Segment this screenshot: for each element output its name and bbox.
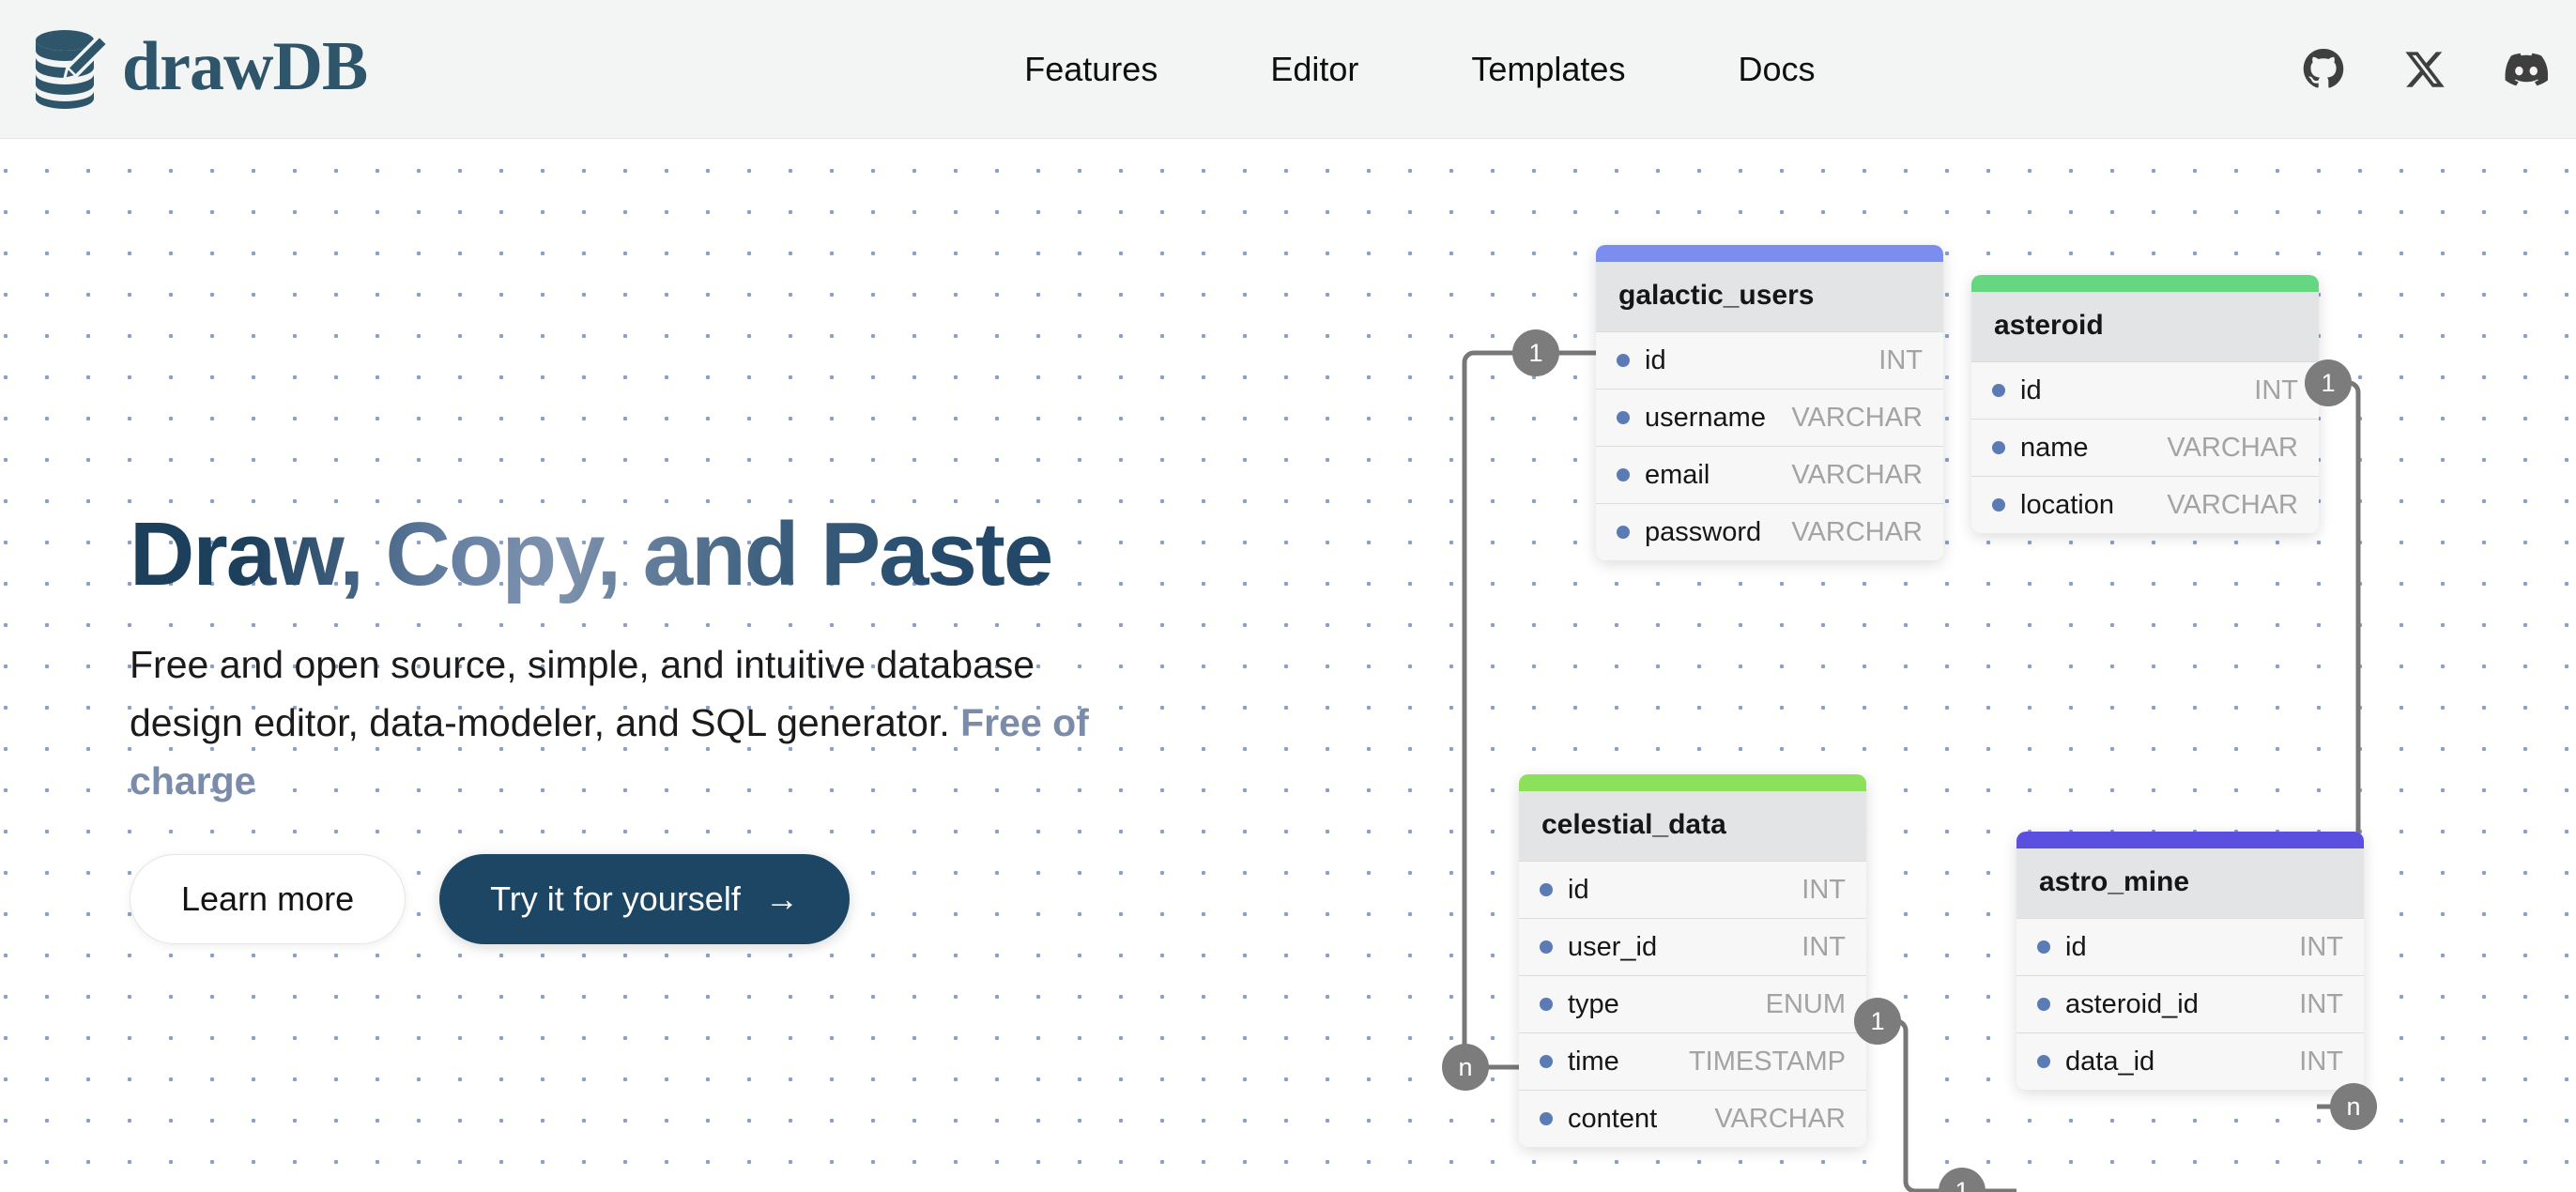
table-row[interactable]: asteroid_id INT (2016, 975, 2364, 1032)
field-type: TIMESTAMP (1689, 1047, 1846, 1077)
cardinality-badge-mine-asteroid-id: n (2330, 1083, 2377, 1130)
table-row[interactable]: id INT (1596, 331, 1943, 389)
cardinality-badge-celestial-user-id: n (1442, 1044, 1489, 1091)
field-name: username (1645, 403, 1766, 434)
edge-celestial-to-mine (1866, 1021, 2016, 1191)
field-key-icon (2037, 1055, 2050, 1068)
field-name: id (1568, 875, 1589, 906)
field-name: asteroid_id (2065, 989, 2199, 1020)
social-links (2302, 48, 2548, 91)
table-title: astro_mine (2016, 848, 2364, 918)
table-node-astro-mine[interactable]: astro_mine id INT asteroid_id INT data_i… (2016, 832, 2364, 1090)
field-type: INT (2299, 1047, 2343, 1077)
field-type: INT (1802, 875, 1846, 906)
field-key-icon (1540, 883, 1553, 896)
discord-icon[interactable] (2505, 48, 2548, 91)
field-key-icon (1617, 468, 1630, 481)
field-type: VARCHAR (1714, 1104, 1846, 1135)
table-row[interactable]: username VARCHAR (1596, 389, 1943, 446)
table-title: celestial_data (1519, 791, 1866, 861)
cardinality-badge-asteroid-id: 1 (2305, 359, 2352, 406)
field-type: VARCHAR (1791, 460, 1923, 491)
field-name: data_id (2065, 1047, 2154, 1077)
field-type: INT (2299, 989, 2343, 1020)
field-type: VARCHAR (1791, 517, 1923, 548)
diagram-canvas[interactable]: Draw, Copy, and Paste Free and open sour… (0, 140, 2576, 1192)
site-header: drawDB Features Editor Templates Docs (0, 0, 2576, 139)
nav-features[interactable]: Features (1024, 50, 1158, 89)
table-row[interactable]: name VARCHAR (1971, 419, 2319, 476)
field-key-icon (1992, 384, 2005, 397)
field-key-icon (1617, 354, 1630, 367)
table-title: asteroid (1971, 292, 2319, 361)
nav-docs[interactable]: Docs (1738, 50, 1815, 89)
field-key-icon (1617, 411, 1630, 424)
field-name: user_id (1568, 932, 1657, 963)
table-color-bar (1971, 275, 2319, 292)
table-row[interactable]: id INT (1519, 861, 1866, 918)
field-name: email (1645, 460, 1710, 491)
field-key-icon (2037, 940, 2050, 954)
table-row[interactable]: location VARCHAR (1971, 476, 2319, 533)
x-twitter-icon[interactable] (2403, 48, 2446, 91)
github-icon[interactable] (2302, 48, 2345, 91)
field-type: INT (2299, 932, 2343, 963)
field-name: id (2020, 375, 2042, 406)
field-key-icon (1540, 1055, 1553, 1068)
er-diagram: 1 n 1 n 1 1 galactic_users id INT userna… (0, 140, 2576, 1192)
field-name: id (1645, 345, 1666, 376)
table-row[interactable]: type ENUM (1519, 975, 1866, 1032)
table-node-celestial-data[interactable]: celestial_data id INT user_id INT type E… (1519, 774, 1866, 1147)
cardinality-badge-users-id: 1 (1512, 329, 1559, 376)
field-name: content (1568, 1104, 1657, 1135)
field-name: password (1645, 517, 1761, 548)
field-name: location (2020, 490, 2114, 521)
table-color-bar (1519, 774, 1866, 791)
table-title: galactic_users (1596, 262, 1943, 331)
database-pencil-icon (34, 28, 109, 111)
field-name: name (2020, 433, 2089, 464)
nav-templates[interactable]: Templates (1471, 50, 1625, 89)
field-type: INT (1878, 345, 1923, 376)
field-type: VARCHAR (2167, 490, 2298, 521)
table-node-asteroid[interactable]: asteroid id INT name VARCHAR location VA… (1971, 275, 2319, 533)
table-row[interactable]: id INT (2016, 918, 2364, 975)
field-key-icon (1617, 526, 1630, 539)
table-row[interactable]: id INT (1971, 361, 2319, 419)
main-nav: Features Editor Templates Docs (1024, 50, 1815, 89)
field-key-icon (1992, 441, 2005, 454)
field-key-icon (1540, 940, 1553, 954)
field-name: id (2065, 932, 2087, 963)
field-key-icon (1540, 1112, 1553, 1125)
table-row[interactable]: time TIMESTAMP (1519, 1032, 1866, 1090)
brand-name: drawDB (122, 32, 367, 107)
table-node-galactic-users[interactable]: galactic_users id INT username VARCHAR e… (1596, 245, 1943, 560)
field-type: VARCHAR (1791, 403, 1923, 434)
field-type: VARCHAR (2167, 433, 2298, 464)
cardinality-badge-celestial-id: 1 (1854, 998, 1901, 1045)
table-row[interactable]: user_id INT (1519, 918, 1866, 975)
field-key-icon (2037, 998, 2050, 1011)
table-row[interactable]: data_id INT (2016, 1032, 2364, 1090)
field-type: INT (2254, 375, 2298, 406)
field-key-icon (1992, 498, 2005, 512)
brand-logo[interactable]: drawDB (34, 28, 367, 111)
field-type: ENUM (1766, 989, 1846, 1020)
table-row[interactable]: content VARCHAR (1519, 1090, 1866, 1147)
table-color-bar (1596, 245, 1943, 262)
field-type: INT (1802, 932, 1846, 963)
field-name: type (1568, 989, 1619, 1020)
field-key-icon (1540, 998, 1553, 1011)
table-row[interactable]: password VARCHAR (1596, 503, 1943, 560)
table-color-bar (2016, 832, 2364, 848)
field-name: time (1568, 1047, 1619, 1077)
table-row[interactable]: email VARCHAR (1596, 446, 1943, 503)
nav-editor[interactable]: Editor (1270, 50, 1358, 89)
